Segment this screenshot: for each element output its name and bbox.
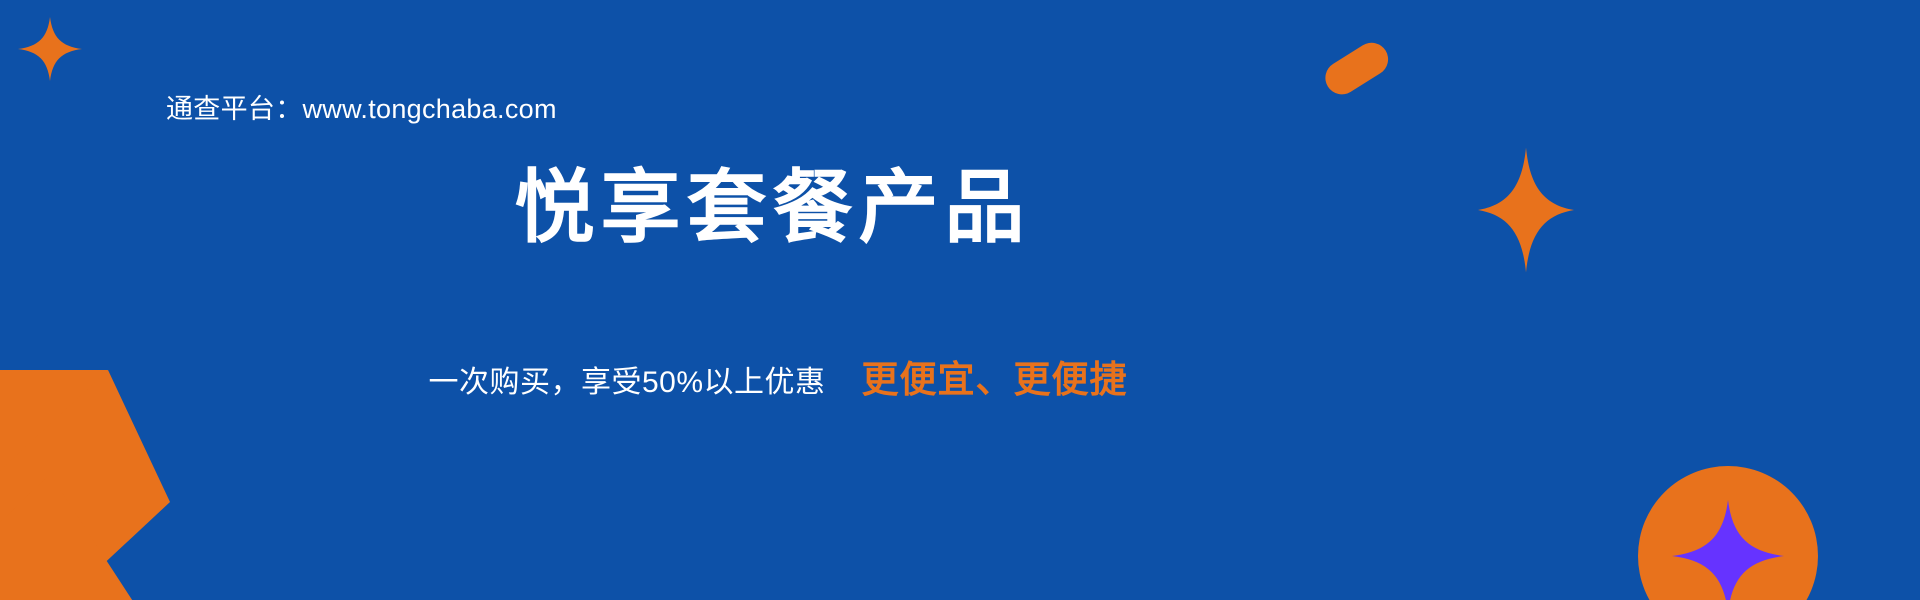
page-title: 悦享套餐产品 <box>0 166 1545 250</box>
platform-url[interactable]: www.tongchaba.com <box>303 94 557 124</box>
platform-label: 通查平台： <box>166 94 303 124</box>
subtitle-discount-text: 一次购买，享受50%以上优惠 <box>428 366 825 399</box>
site-url-line: 通查平台：www.tongchaba.com <box>166 87 557 126</box>
subtitle-highlight-text: 更便宜、更便捷 <box>862 359 1128 400</box>
promo-banner: 通查平台：www.tongchaba.com 悦享套餐产品 一次购买，享受50%… <box>0 0 1920 600</box>
banner-content: 通查平台：www.tongchaba.com 悦享套餐产品 一次购买，享受50%… <box>0 0 1920 600</box>
subtitle-row: 一次购买，享受50%以上优惠更便宜、更便捷 <box>0 357 1556 403</box>
